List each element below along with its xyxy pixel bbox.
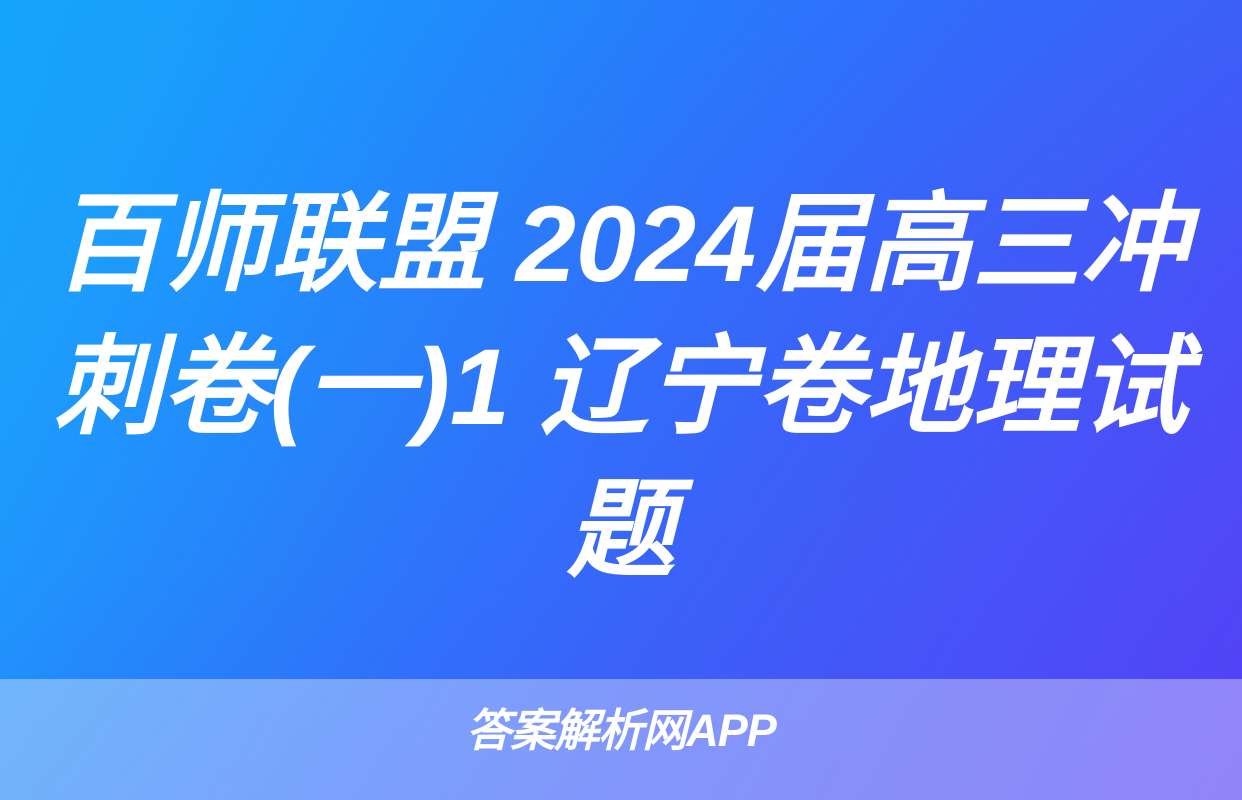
title-line-3: 题 [24, 458, 1218, 601]
page-title: 百师联盟 2024届高三冲 刺卷(一)1 辽宁卷地理试 题 [0, 172, 1242, 601]
watermark-label: 答案解析网APP [466, 706, 776, 756]
title-line-2: 刺卷(一)1 辽宁卷地理试 [24, 315, 1218, 458]
title-line-1: 百师联盟 2024届高三冲 [24, 172, 1218, 315]
poster-screen: 百师联盟 2024届高三冲 刺卷(一)1 辽宁卷地理试 题 答案解析网APP [0, 0, 1242, 800]
watermark: 答案解析网APP [0, 706, 1242, 756]
